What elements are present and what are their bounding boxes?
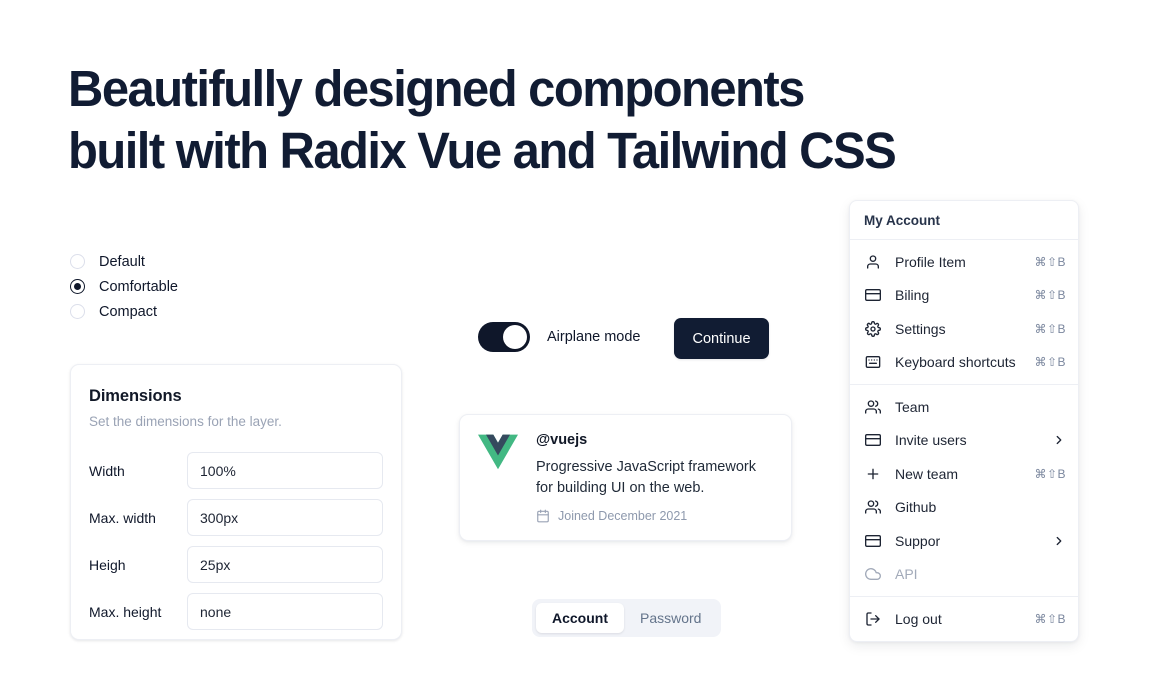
menu-item-github[interactable]: Github [850,491,1078,525]
page-title: Beautifully designed components built wi… [68,58,990,182]
tab-account[interactable]: Account [536,603,624,633]
menu-item-shortcut: ⌘⇧B [1034,255,1066,269]
keyboard-icon [864,354,881,371]
credit-card-icon [864,532,881,549]
calendar-icon [536,509,550,523]
density-radio-group: DefaultComfortableCompact [70,249,178,324]
menu-item-label: Invite users [895,432,1052,448]
dimension-field-row: Max. height [89,588,383,635]
menu-item-shortcut: ⌘⇧B [1034,467,1066,481]
continue-button[interactable]: Continue [674,318,769,359]
users-icon [864,398,881,415]
settings-tabs: AccountPassword [532,599,721,637]
chevron-right-icon [1052,534,1066,548]
dimension-label: Heigh [89,557,187,573]
dimensions-card: Dimensions Set the dimensions for the la… [70,364,402,640]
menu-item-profile-item[interactable]: Profile Item⌘⇧B [850,245,1078,279]
hover-card-handle: @vuejs [536,432,773,448]
menu-group: Profile Item⌘⇧BBiling⌘⇧BSettings⌘⇧BKeybo… [850,240,1078,384]
menu-header: My Account [850,201,1078,239]
menu-item-shortcut: ⌘⇧B [1034,322,1066,336]
menu-item-team[interactable]: Team [850,390,1078,424]
hero-section: Beautifully designed components built wi… [68,58,1028,182]
hover-card-body: @vuejs Progressive JavaScript framework … [536,432,773,523]
dimension-field-row: Max. width [89,494,383,541]
dimension-label: Width [89,463,187,479]
menu-item-suppor[interactable]: Suppor [850,524,1078,558]
menu-item-label: Github [895,499,1066,515]
dimension-label: Max. width [89,510,187,526]
dimension-field-row: Width [89,447,383,494]
airplane-mode-label: Airplane mode [547,329,641,345]
dimension-field-row: Heigh [89,541,383,588]
width-input[interactable] [187,452,383,489]
dimensions-card-title: Dimensions [89,387,383,406]
vue-hover-card: @vuejs Progressive JavaScript framework … [459,414,792,541]
tab-password[interactable]: Password [624,603,717,633]
user-icon [864,253,881,270]
menu-item-label: Suppor [895,533,1052,549]
menu-item-label: Biling [895,287,1034,303]
switch-knob [503,325,527,349]
radio-label: Comfortable [99,279,178,295]
hover-card-description: Progressive JavaScript framework for bui… [536,457,773,499]
menu-item-shortcut: ⌘⇧B [1034,612,1066,626]
vue-logo-icon [478,434,518,470]
heigh-input[interactable] [187,546,383,583]
menu-item-new-team[interactable]: New team⌘⇧B [850,457,1078,491]
plus-icon [864,465,881,482]
hover-card-joined-text: Joined December 2021 [558,509,687,523]
gear-icon [864,320,881,337]
airplane-mode-row: Airplane mode [478,322,641,352]
menu-item-shortcut: ⌘⇧B [1034,355,1066,369]
radio-indicator[interactable] [70,304,85,319]
menu-item-label: Keyboard shortcuts [895,354,1034,370]
dimensions-field-list: WidthMax. widthHeighMax. height [89,447,383,635]
airplane-mode-switch[interactable] [478,322,530,352]
menu-item-label: New team [895,466,1034,482]
menu-item-keyboard-shortcuts[interactable]: Keyboard shortcuts⌘⇧B [850,346,1078,380]
credit-card-icon [864,287,881,304]
radio-label: Compact [99,304,157,320]
menu-item-label: API [895,566,1066,582]
menu-item-invite-users[interactable]: Invite users [850,424,1078,458]
chevron-right-icon [1052,433,1066,447]
dimensions-card-subtitle: Set the dimensions for the layer. [89,414,383,429]
hover-card-meta: Joined December 2021 [536,509,773,523]
menu-item-settings[interactable]: Settings⌘⇧B [850,312,1078,346]
menu-item-log-out[interactable]: Log out⌘⇧B [850,602,1078,636]
max-height-input[interactable] [187,593,383,630]
radio-option-default[interactable]: Default [70,249,178,274]
menu-item-label: Team [895,399,1066,415]
radio-indicator[interactable] [70,279,85,294]
menu-item-label: Settings [895,321,1034,337]
credit-card-icon [864,432,881,449]
logout-icon [864,610,881,627]
radio-option-compact[interactable]: Compact [70,299,178,324]
menu-item-biling[interactable]: Biling⌘⇧B [850,279,1078,313]
radio-indicator[interactable] [70,254,85,269]
menu-group: Log out⌘⇧B [850,597,1078,641]
cloud-icon [864,566,881,583]
account-dropdown-menu: My Account Profile Item⌘⇧BBiling⌘⇧BSetti… [849,200,1079,642]
menu-item-shortcut: ⌘⇧B [1034,288,1066,302]
max-width-input[interactable] [187,499,383,536]
menu-groups: Profile Item⌘⇧BBiling⌘⇧BSettings⌘⇧BKeybo… [850,240,1078,641]
users-icon [864,499,881,516]
radio-label: Default [99,254,145,270]
menu-item-label: Log out [895,611,1034,627]
menu-item-label: Profile Item [895,254,1034,270]
menu-item-api: API [850,558,1078,592]
dimension-label: Max. height [89,604,187,620]
menu-group: TeamInvite usersNew team⌘⇧BGithubSupporA… [850,385,1078,596]
radio-option-comfortable[interactable]: Comfortable [70,274,178,299]
